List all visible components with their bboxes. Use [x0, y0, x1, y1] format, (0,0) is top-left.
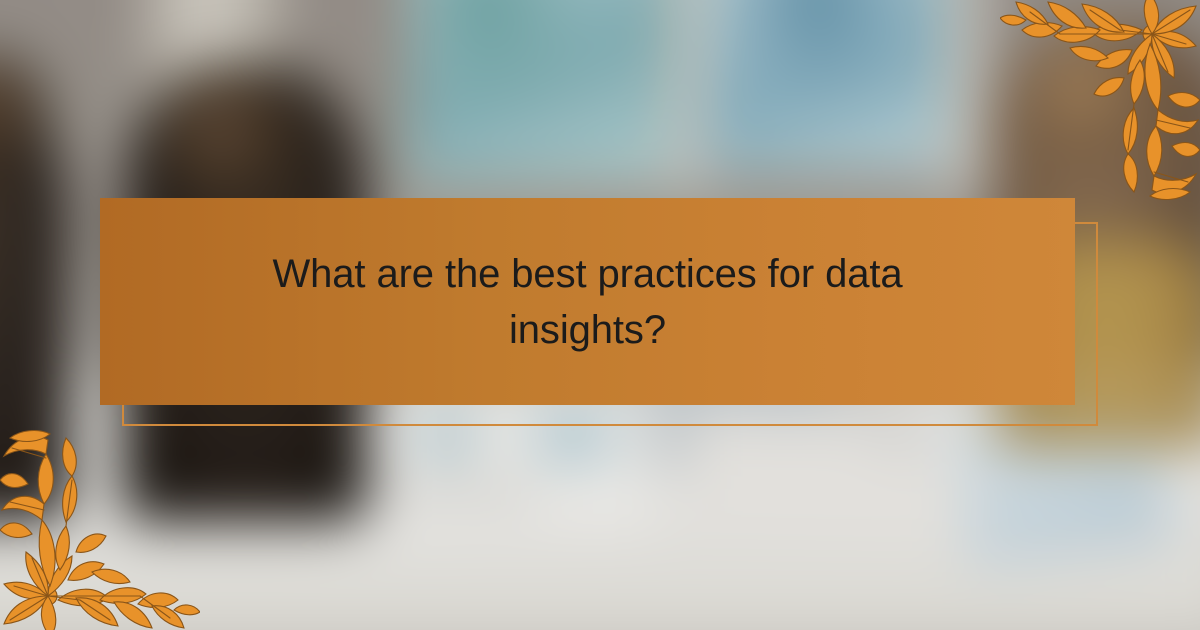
page-title: What are the best practices for data ins… — [243, 246, 933, 358]
headline-panel: What are the best practices for data ins… — [100, 198, 1075, 405]
share-card-canvas: What are the best practices for data ins… — [0, 0, 1200, 630]
